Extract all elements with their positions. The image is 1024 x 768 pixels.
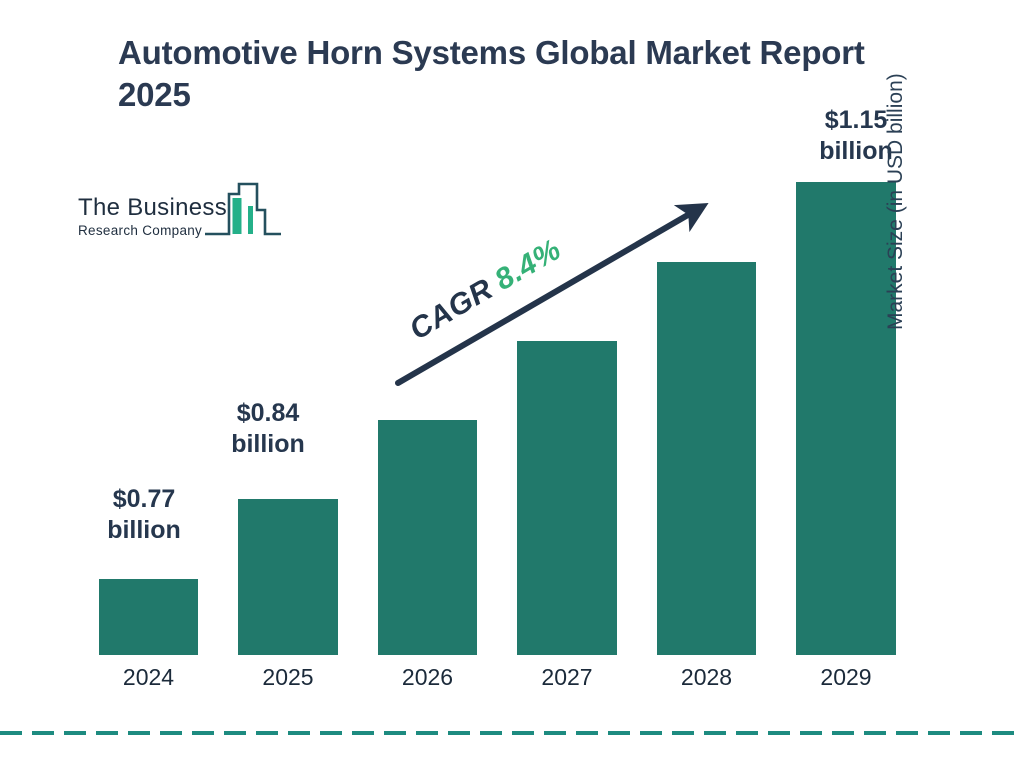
bar-2026 <box>378 420 477 655</box>
value-label-2024-unit: billion <box>74 515 214 546</box>
bar-2024 <box>99 579 198 655</box>
x-tick-2024: 2024 <box>99 662 198 692</box>
chart-canvas: Automotive Horn Systems Global Market Re… <box>0 0 1024 768</box>
x-tick-2028: 2028 <box>657 662 756 692</box>
y-axis-label: Market Size (in USD billion) <box>884 30 908 330</box>
value-label-2024: $0.77 billion <box>74 484 214 546</box>
x-tick-2026: 2026 <box>378 662 477 692</box>
cagr-label: CAGR <box>404 273 499 347</box>
bar-2027 <box>517 341 617 655</box>
bar-2028 <box>657 262 756 655</box>
x-tick-2025: 2025 <box>238 662 338 692</box>
bar-chart-plot: 2024 2025 2026 2027 2028 2029 $0.77 bill… <box>0 0 1024 768</box>
footer-divider <box>0 731 1024 735</box>
value-label-2024-amount: $0.77 <box>74 484 214 515</box>
bar-2025 <box>238 499 338 655</box>
x-tick-2027: 2027 <box>517 662 617 692</box>
bar-2029 <box>796 182 896 655</box>
value-label-2025-unit: billion <box>198 429 338 460</box>
cagr-annotation: CAGR 8.4% <box>404 233 567 347</box>
value-label-2025-amount: $0.84 <box>198 398 338 429</box>
x-tick-2029: 2029 <box>796 662 896 692</box>
cagr-value: 8.4% <box>489 233 566 297</box>
value-label-2025: $0.84 billion <box>198 398 338 460</box>
